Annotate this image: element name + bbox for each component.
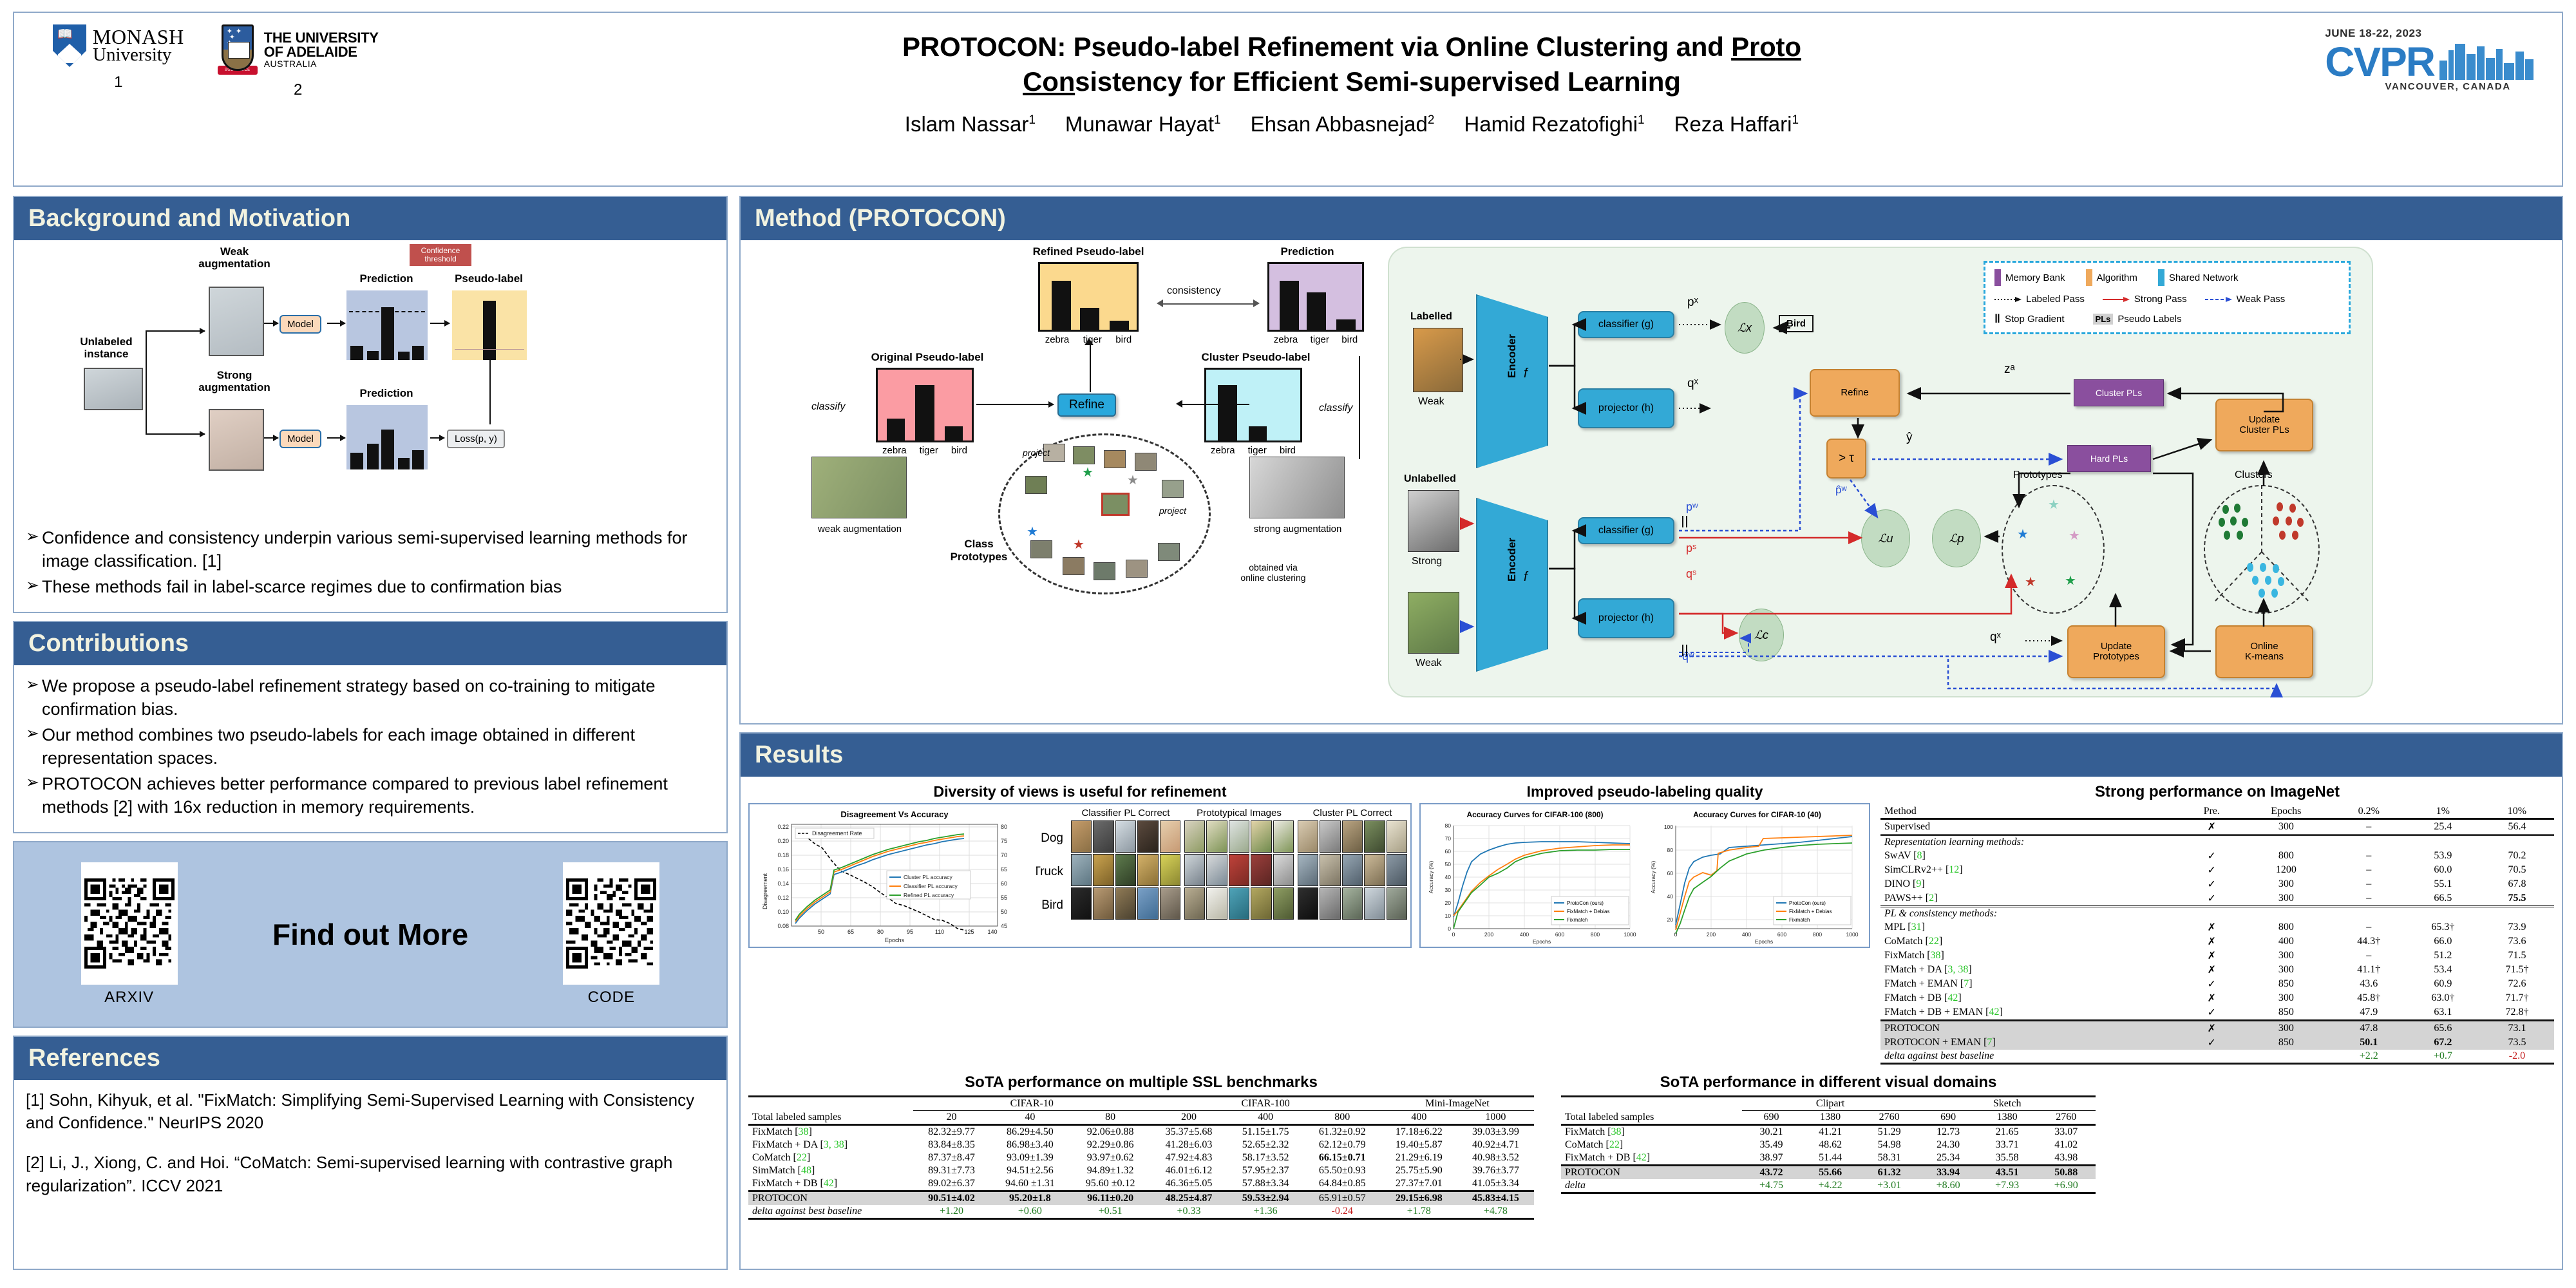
svg-text:Cluster PL accuracy: Cluster PL accuracy: [904, 874, 952, 880]
bullet-item: ➢PROTOCON achieves better performance co…: [26, 772, 714, 819]
svg-text:80: 80: [1445, 822, 1452, 829]
prediction-histogram: [1267, 262, 1364, 332]
svg-text:50: 50: [1445, 861, 1452, 867]
cluster-thumbnail: [1030, 540, 1052, 558]
section-results: Results Diversity of views is useful for…: [739, 732, 2563, 1270]
author-item: Hamid Rezatofighi1: [1464, 112, 1644, 137]
svg-text:ProtoCon (ours): ProtoCon (ours): [1567, 900, 1604, 906]
prediction-ticks: zebratigerbird: [1267, 334, 1364, 345]
svg-text:60: 60: [1001, 880, 1007, 887]
monash-logo: MONASH University 1: [53, 24, 184, 91]
affiliation-number-1: 1: [114, 73, 122, 91]
table-row: FixMatch [38]✗300 –51.271.5: [1880, 949, 2554, 963]
cvpr-location: VANCOUVER, CANADA: [2361, 81, 2535, 92]
svg-text:ProtoCon (ours): ProtoCon (ours): [1789, 900, 1826, 906]
adelaide-logo: ✦ ✦ ✦✦ SUB CRUCE LUMEN THE UNIVERSITY OF…: [218, 24, 379, 99]
svg-text:Fixmatch: Fixmatch: [1789, 917, 1810, 923]
label-prediction: Prediction: [1249, 245, 1365, 258]
svg-text:0.08: 0.08: [777, 923, 789, 929]
svg-text:200: 200: [1707, 931, 1716, 938]
svg-text:Epochs: Epochs: [885, 937, 905, 943]
section-heading-method: Method (PROTOCON): [741, 197, 2562, 240]
grid-row-label-bird: Bird: [1039, 889, 1067, 922]
label-strong-augmentation: Strongaugmentation: [189, 369, 279, 393]
svg-text:60: 60: [1445, 848, 1452, 855]
chart-cifar100-curves: Accuracy Curves for CIFAR-100 (800): [1424, 808, 1646, 945]
table-row: FMatch + DA [3, 38]✗300 41.1†53.471.5†: [1880, 963, 2554, 977]
svg-text:95: 95: [907, 929, 913, 935]
monash-shield-icon: [53, 24, 86, 67]
section-heading-background: Background and Motivation: [14, 197, 726, 240]
grid-cluster: Cluster PL Correct: [1298, 808, 1407, 943]
vancouver-skyline-icon: [2438, 40, 2535, 80]
svg-text:FixMatch + Debias: FixMatch + Debias: [1567, 909, 1609, 914]
svg-text:70: 70: [1001, 852, 1007, 858]
group-mini-imagenet: Mini-ImageNet: [1381, 1097, 1534, 1111]
affiliation-number-2: 2: [294, 81, 302, 99]
left-column: Background and Motivation Weakaugmentati…: [13, 196, 728, 1270]
section-heading-contributions: Contributions: [14, 622, 726, 665]
svg-text:50: 50: [1001, 909, 1007, 915]
results-body: Diversity of views is useful for refinem…: [741, 777, 2562, 1225]
table-delta-row: delta against best baseline +2.2+0.7-2.0: [1880, 1050, 2554, 1064]
diversity-block: Diversity of views is useful for refinem…: [748, 783, 1412, 948]
quality-subpanel: Accuracy Curves for CIFAR-100 (800): [1419, 803, 1870, 948]
svg-text:0.16: 0.16: [777, 866, 789, 873]
references-list: [1] Sohn, Kihyuk, et al. "FixMatch: Simp…: [14, 1080, 726, 1209]
svg-text:0.20: 0.20: [777, 838, 789, 844]
find-out-more-title: Find out More: [272, 917, 468, 952]
table-row-highlight: PROTOCON 43.7255.6661.32 33.9443.5150.88: [1561, 1166, 2096, 1180]
monash-name-line2: University: [93, 46, 184, 64]
loss-box: Loss(p, y): [447, 430, 505, 448]
group-cifar10: CIFAR-10: [913, 1097, 1151, 1111]
label-classify-right: classify: [1319, 402, 1352, 414]
svg-text:FixMatch + Debias: FixMatch + Debias: [1789, 909, 1832, 914]
imagenet-table: Method Pre. Epochs 0.2% 1% 10% Supervise…: [1880, 805, 2554, 1065]
section-method: Method (PROTOCON) Refined Pseudo-label z…: [739, 196, 2563, 724]
col-pre: Pre.: [2183, 805, 2241, 819]
svg-text:200: 200: [1484, 931, 1493, 938]
quality-block: Improved pseudo-labeling quality Accurac…: [1419, 783, 1870, 948]
svg-text:Refined PL accuracy: Refined PL accuracy: [904, 892, 954, 898]
prototype-star-blue: ★: [1027, 524, 1038, 540]
table-row-highlight: PROTOCON✗300 47.865.673.1: [1880, 1021, 2554, 1036]
code-qr-icon[interactable]: [563, 862, 659, 985]
table-group-header-row: Total labeled samples Clipart Sketch: [1561, 1097, 2096, 1111]
label-project-left: project: [1023, 448, 1050, 458]
svg-text:100: 100: [1664, 824, 1673, 830]
svg-text:600: 600: [1555, 931, 1564, 938]
label-prediction-strong: Prediction: [348, 387, 425, 399]
visual-domains-block: SoTA performance in different visual dom…: [1542, 1074, 2096, 1194]
label-refined-pseudo-label: Refined Pseudo-label: [1018, 245, 1159, 258]
grid-row-label-dog: Dog: [1039, 822, 1067, 855]
table-row: FMatch + DB + EMAN [42]✓850 47.963.172.8…: [1880, 1005, 2554, 1021]
poster-header: MONASH University 1 ✦ ✦ ✦✦ SUB CRUCE LUM…: [13, 12, 2563, 187]
label-cluster-pseudo-label: Cluster Pseudo-label: [1185, 351, 1327, 364]
method-figure: Refined Pseudo-label zebratigerbird Pred…: [741, 240, 2562, 723]
svg-text:110: 110: [935, 929, 944, 935]
subtitle-imagenet: Strong performance on ImageNet: [1880, 783, 2554, 801]
adelaide-line3: AUSTRALIA: [264, 59, 379, 68]
svg-text:Classifier PL accuracy: Classifier PL accuracy: [904, 883, 958, 889]
cluster-thumbnail: [1073, 446, 1095, 464]
arxiv-qr-label: ARXIV: [81, 989, 178, 1007]
svg-text:0: 0: [1674, 931, 1678, 938]
svg-text:0: 0: [1452, 931, 1455, 938]
open-book-icon: [228, 42, 250, 59]
unlabeled-instance-thumbnail: [84, 368, 143, 410]
svg-text:60: 60: [1667, 870, 1674, 876]
page-title: PROTOCON: Pseudo-label Refinement via On…: [379, 30, 2325, 99]
results-row-bottom: SoTA performance on multiple SSL benchma…: [748, 1074, 2554, 1220]
table-delta-row: delta +4.75+4.22+3.01 +8.60+7.93+6.90: [1561, 1179, 2096, 1193]
prediction-histogram-weak: [346, 290, 428, 360]
grid-header-cluster: Cluster PL Correct: [1298, 808, 1407, 820]
svg-text:65: 65: [1001, 866, 1007, 873]
svg-text:75: 75: [1001, 838, 1007, 844]
group-sketch: Sketch: [1918, 1097, 2096, 1111]
label-weak-aug-method: weak augmentation: [811, 524, 908, 535]
bullet-item: ➢ Our method combines two pseudo-labels …: [26, 723, 714, 770]
section-contributions: Contributions ➢We propose a pseudo-label…: [13, 621, 728, 833]
grid-header-prototypical: Prototypical Images: [1184, 808, 1294, 820]
table-row: FixMatch + DA [3, 38] 83.84±8.3586.98±3.…: [748, 1139, 1534, 1151]
prototype-star-green: ★: [1082, 464, 1094, 480]
monash-name-line1: MONASH: [93, 28, 184, 46]
prototype-star-red: ★: [1073, 536, 1084, 553]
subtitle-domains: SoTA performance in different visual dom…: [1561, 1074, 2096, 1092]
label-strong-aug-method: strong augmentation: [1249, 524, 1346, 535]
code-qr-block[interactable]: CODE: [563, 862, 659, 1007]
author-item: Munawar Hayat1: [1065, 112, 1221, 137]
svg-text:10: 10: [1445, 913, 1452, 919]
table-row: FixMatch [38] 82.32±9.7786.29±4.5092.06±…: [748, 1125, 1534, 1139]
chart-cifar10-curves: Accuracy Curves for CIFAR-10 (40): [1646, 808, 1868, 945]
table-row: FMatch + EMAN [7]✓850 43.660.972.6: [1880, 977, 2554, 991]
adelaide-shield-icon: ✦ ✦ ✦✦: [222, 24, 254, 71]
svg-text:45: 45: [1001, 923, 1007, 929]
visual-domains-table: Total labeled samples Clipart Sketch 690…: [1561, 1095, 2096, 1194]
bike-strong-thumbnail: [209, 409, 264, 471]
label-weak-augmentation: Weakaugmentation: [189, 245, 279, 270]
table-row: CoMatch [22] 87.37±8.4793.09±1.3993.97±0…: [748, 1151, 1534, 1164]
subtitle-ssl: SoTA performance on multiple SSL benchma…: [748, 1074, 1534, 1092]
table-row: SimMatch [48] 89.31±7.7394.51±2.5694.89±…: [748, 1164, 1534, 1177]
consistency-arrow-icon: [1159, 303, 1256, 305]
col-1: 1%: [2406, 805, 2480, 819]
chart-disagreement-vs-accuracy: Disagreement Vs Accuracy: [753, 808, 1036, 945]
table-row-highlight: PROTOCON + EMAN [7]✓850 50.167.273.5: [1880, 1036, 2554, 1050]
col-02: 0.2%: [2332, 805, 2406, 819]
svg-text:400: 400: [1520, 931, 1529, 938]
adelaide-line2: OF ADELAIDE: [264, 45, 379, 59]
affiliation-logos: MONASH University 1 ✦ ✦ ✦✦ SUB CRUCE LUM…: [14, 13, 379, 99]
label-unlabeled-instance: Unlabeledinstance: [64, 336, 148, 360]
table-group-header-row: Total labeled samples CIFAR-10 CIFAR-100…: [748, 1097, 1534, 1111]
table-row: CoMatch [22] 35.4948.6254.98 24.3033.714…: [1561, 1139, 2096, 1151]
label-classify-left: classify: [811, 401, 845, 413]
model-box-weak: Model: [279, 315, 321, 334]
right-column: Method (PROTOCON) Refined Pseudo-label z…: [739, 196, 2563, 1270]
table-row: CoMatch [22]✗400 44.3†66.073.6: [1880, 934, 2554, 949]
svg-text:40: 40: [1445, 874, 1452, 880]
query-thumbnail-highlighted: [1101, 493, 1130, 516]
section-background: Background and Motivation Weakaugmentati…: [13, 196, 728, 613]
section-heading-references: References: [14, 1037, 726, 1080]
domains-row-header: Total labeled samples: [1561, 1097, 1742, 1125]
svg-text:65: 65: [848, 929, 854, 935]
reference-item: [1] Sohn, Kihyuk, et al. "FixMatch: Simp…: [26, 1089, 714, 1135]
subtitle-diversity: Diversity of views is useful for refinem…: [748, 783, 1412, 800]
table-row: FixMatch + DB [42] 38.9751.4458.31 25.34…: [1561, 1151, 2096, 1166]
svg-text:20: 20: [1445, 900, 1452, 906]
col-10: 10%: [2480, 805, 2554, 819]
svg-text:0.12: 0.12: [777, 895, 789, 901]
svg-text:Fixmatch: Fixmatch: [1567, 917, 1587, 923]
svg-text:70: 70: [1445, 835, 1452, 842]
results-row-top: Diversity of views is useful for refinem…: [748, 783, 2554, 1065]
svg-text:140: 140: [987, 929, 997, 935]
table-row: FixMatch [38] 30.2141.2151.29 12.7321.65…: [1561, 1125, 2096, 1139]
subtitle-quality: Improved pseudo-labeling quality: [1419, 783, 1870, 800]
svg-text:Epochs: Epochs: [1533, 938, 1551, 945]
background-figure: Weakaugmentation Unlabeledinstance Stron…: [14, 240, 726, 517]
table-row-highlight: PROTOCON 90.51±4.0295.20±1.896.11±0.20 4…: [748, 1191, 1534, 1206]
chart-svg-disagreement: 0.220.200.18 0.160.140.12 0.100.08 80757…: [753, 808, 1036, 945]
cluster-pl-histogram: [1204, 368, 1302, 442]
svg-text:80: 80: [877, 929, 884, 935]
refined-pl-histogram: [1038, 262, 1139, 332]
table-section-row: PL & consistency methods:: [1880, 907, 2554, 921]
adelaide-line1: THE UNIVERSITY: [264, 31, 379, 45]
svg-text:Disagreement Rate: Disagreement Rate: [812, 830, 862, 837]
zebra-weak-thumbnail: [811, 457, 907, 518]
grid-prototypical: Prototypical Images: [1184, 808, 1294, 943]
cluster-thumbnail: [1135, 453, 1157, 471]
label-original-pseudo-label: Original Pseudo-label: [857, 351, 998, 364]
table-delta-row: delta against best baseline +1.20+0.60+0…: [748, 1205, 1534, 1219]
table-row: DINO [9]✓300 –55.167.8: [1880, 877, 2554, 891]
chart-svg-cifar100: 80706050 403020100 0200400 6008001000 Ep…: [1424, 808, 1646, 945]
chart-title-cifar10: Accuracy Curves for CIFAR-10 (40): [1646, 810, 1868, 819]
svg-text:Epochs: Epochs: [1755, 938, 1773, 945]
diversity-subpanel: Disagreement Vs Accuracy: [748, 803, 1412, 948]
chart-svg-cifar10: 10080604020 0200400 6008001000 Epochs Ac…: [1646, 808, 1868, 945]
table-row: Supervised✗300 –25.456.4: [1880, 819, 2554, 835]
grid-header-classifier: Classifier PL Correct: [1071, 808, 1180, 820]
find-out-more-panel: ARXIV Find out More: [13, 841, 728, 1028]
zebra-strong-thumbnail: [1249, 457, 1345, 518]
model-box-strong: Model: [279, 430, 321, 448]
reference-item: [2] Li, J., Xiong, C. and Hoi. “CoMatch:…: [26, 1151, 714, 1198]
cluster-thumbnail: [1162, 480, 1184, 498]
chart-title-disagreement: Disagreement Vs Accuracy: [753, 810, 1036, 819]
svg-text:Accuracy (%): Accuracy (%): [1428, 861, 1434, 894]
title-block: PROTOCON: Pseudo-label Refinement via On…: [379, 13, 2325, 137]
table-header-row: Method Pre. Epochs 0.2% 1% 10%: [1880, 805, 2554, 819]
pseudo-label-histogram: [452, 290, 527, 360]
section-heading-results: Results: [741, 734, 2562, 777]
grid-row-label-truck: Truck: [1039, 855, 1067, 889]
label-prediction-weak: Prediction: [348, 272, 425, 285]
imagenet-block: Strong performance on ImageNet Method Pr…: [1878, 783, 2554, 1065]
prediction-histogram-strong: [346, 405, 428, 469]
svg-text:0.14: 0.14: [777, 880, 789, 887]
svg-text:0.18: 0.18: [777, 852, 789, 858]
svg-text:0: 0: [1448, 925, 1451, 932]
cvpr-date: JUNE 18-22, 2023: [2325, 27, 2535, 40]
confidence-threshold-callout: Confidencethreshold: [410, 244, 471, 266]
ssl-benchmarks-table: Total labeled samples CIFAR-10 CIFAR-100…: [748, 1095, 1534, 1220]
author-item: Reza Haffari1: [1674, 112, 1799, 137]
grid-classifier: Classifier PL Correct: [1071, 808, 1180, 943]
table-section-row: Representation learning methods:: [1880, 835, 2554, 849]
svg-text:Disagreement: Disagreement: [762, 873, 768, 909]
section-references: References [1] Sohn, Kihyuk, et al. "Fix…: [13, 1036, 728, 1270]
label-obtained-via: obtained viaonline clustering: [1218, 562, 1328, 583]
contributions-bullets: ➢We propose a pseudo-label refinement st…: [14, 665, 726, 832]
poster-root: MONASH University 1 ✦ ✦ ✦✦ SUB CRUCE LUM…: [0, 0, 2576, 1288]
svg-text:55: 55: [1001, 895, 1007, 901]
svg-text:80: 80: [1001, 824, 1007, 830]
cvpr-wordmark: CVPR: [2325, 44, 2434, 80]
code-qr-label: CODE: [563, 989, 659, 1007]
svg-text:600: 600: [1777, 931, 1786, 938]
svg-text:800: 800: [1813, 931, 1822, 938]
table-row: PAWS++ [2]✓300 –66.575.5: [1880, 891, 2554, 907]
ssl-benchmarks-block: SoTA performance on multiple SSL benchma…: [748, 1074, 1534, 1220]
svg-text:20: 20: [1667, 916, 1674, 923]
bullet-item: ➢We propose a pseudo-label refinement st…: [26, 674, 714, 721]
svg-text:80: 80: [1667, 847, 1674, 853]
chart-title-cifar100: Accuracy Curves for CIFAR-100 (800): [1424, 810, 1646, 819]
cluster-pl-ticks: zebratigerbird: [1204, 445, 1302, 456]
svg-text:125: 125: [964, 929, 974, 935]
bullet-item: ➢These methods fail in label-scarce regi…: [26, 575, 714, 598]
group-clipart: Clipart: [1742, 1097, 1919, 1111]
svg-text:1000: 1000: [1846, 931, 1859, 938]
svg-text:40: 40: [1667, 893, 1674, 900]
author-item: Islam Nassar1: [905, 112, 1036, 137]
col-epochs: Epochs: [2240, 805, 2332, 819]
cluster-thumbnail: [1126, 560, 1148, 578]
original-pl-histogram: [876, 368, 974, 442]
bullet-item: ➢Confidence and consistency underpin var…: [26, 526, 714, 573]
svg-text:0.10: 0.10: [777, 909, 789, 915]
table-row: FMatch + DB [42]✗300 45.8†63.0†71.7†: [1880, 991, 2554, 1005]
col-method: Method: [1880, 805, 2183, 819]
label-project-right: project: [1159, 506, 1186, 516]
svg-text:50: 50: [818, 929, 824, 935]
cluster-thumbnail: [1094, 562, 1115, 580]
svg-text:400: 400: [1742, 931, 1751, 938]
cluster-thumbnail: [1104, 450, 1126, 468]
cvpr-logo: JUNE 18-22, 2023 CVPR VANCOUVER, CANADA: [2325, 13, 2562, 92]
svg-text:0.22: 0.22: [777, 824, 789, 830]
label-pseudo-label: Pseudo-label: [447, 272, 531, 285]
image-grid-block: Dog Truck Bird Classifier PL Correct: [1036, 808, 1407, 943]
label-consistency: consistency: [1167, 285, 1221, 297]
refine-button[interactable]: Refine: [1057, 393, 1116, 417]
table-row: SwAV [8]✓800 –53.970.2: [1880, 849, 2554, 863]
ssl-row-header: Total labeled samples: [748, 1097, 913, 1125]
svg-text:Accuracy (%): Accuracy (%): [1650, 861, 1656, 894]
arxiv-qr-icon[interactable]: [81, 862, 178, 985]
svg-text:30: 30: [1445, 887, 1452, 893]
author-list: Islam Nassar1 Munawar Hayat1 Ehsan Abbas…: [379, 112, 2325, 137]
original-pl-ticks: zebratigerbird: [876, 445, 974, 456]
svg-text:800: 800: [1591, 931, 1600, 938]
svg-text:1000: 1000: [1624, 931, 1636, 938]
table-row: SimCLRv2++ [12]✓1200 –60.070.5: [1880, 863, 2554, 877]
arxiv-qr-block[interactable]: ARXIV: [81, 862, 178, 1007]
table-row: MPL [31]✗800 –65.3†73.9: [1880, 920, 2554, 934]
bike-weak-thumbnail: [209, 287, 264, 356]
background-bullets: ➢Confidence and consistency underpin var…: [14, 517, 726, 612]
label-class-prototypes: ClassPrototypes: [934, 538, 1024, 563]
table-row: FixMatch + DB [42] 89.02±6.3794.60 ±1.31…: [748, 1177, 1534, 1191]
cluster-thumbnail: [1158, 543, 1180, 561]
author-item: Ehsan Abbasnejad2: [1251, 112, 1435, 137]
prototype-star-gray: ★: [1127, 472, 1139, 488]
cluster-thumbnail: [1025, 476, 1047, 494]
cluster-thumbnail: [1063, 557, 1084, 575]
group-cifar100: CIFAR-100: [1150, 1097, 1380, 1111]
architecture-connections: [1388, 247, 2373, 697]
